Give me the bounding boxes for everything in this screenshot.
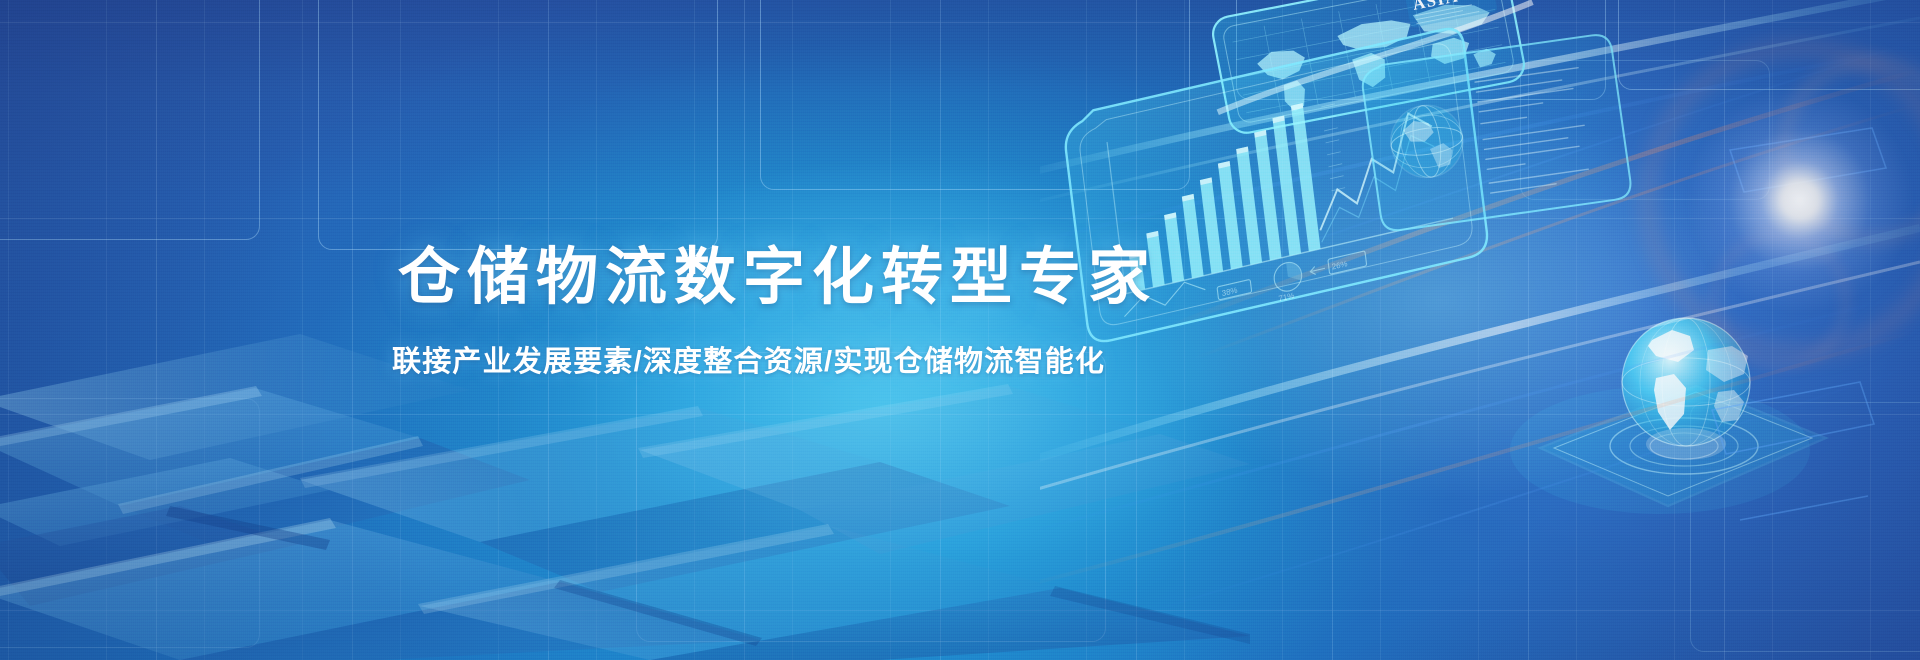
banner-title: 仓储物流数字化转型专家 (398, 226, 1157, 316)
hero-banner: ASIA (0, 0, 1920, 660)
banner-subtitle: 联接产业发展要素/深度整合资源/实现仓储物流智能化 (392, 338, 1105, 380)
banner-copy: 仓储物流数字化转型专家 联接产业发展要素/深度整合资源/实现仓储物流智能化 (0, 0, 1920, 660)
